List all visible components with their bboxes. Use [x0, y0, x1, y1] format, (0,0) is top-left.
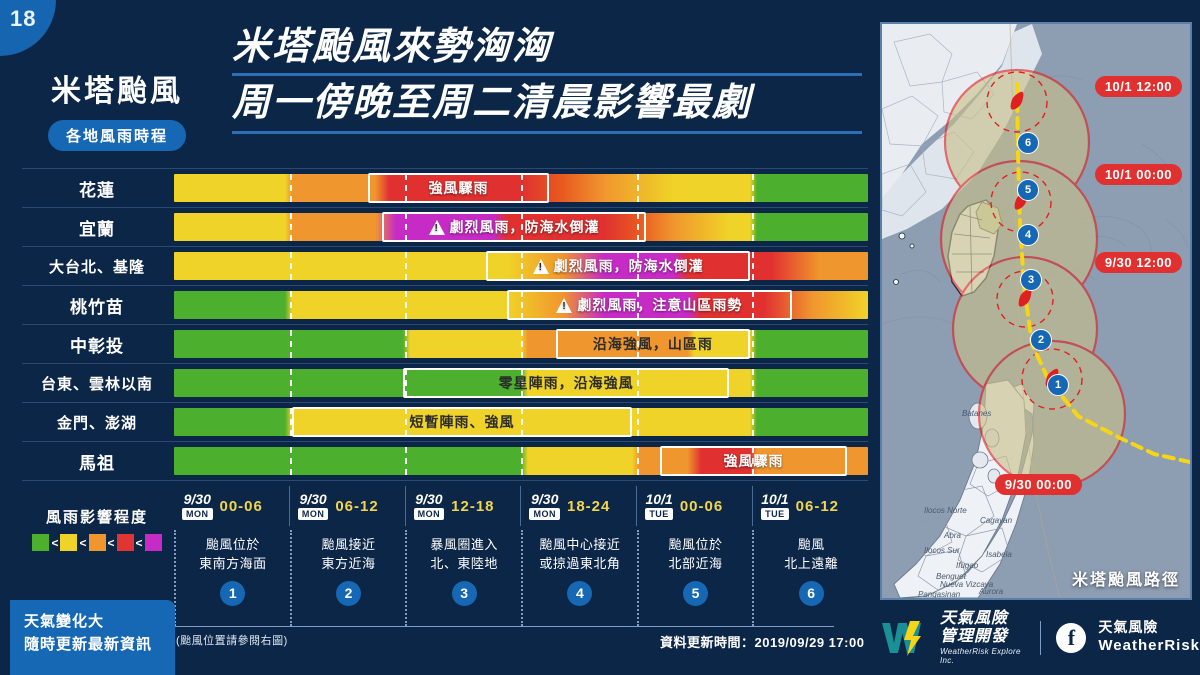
time-gridline — [290, 252, 292, 280]
stage-number-badge: 4 — [567, 581, 592, 606]
brand-name-zh: 天氣風險管理開發 — [940, 610, 1024, 647]
legend-separator: < — [51, 536, 58, 550]
title-divider-2 — [232, 131, 862, 134]
warning-triangle-icon — [556, 298, 572, 313]
severity-track: 零星陣雨，沿海強風 — [174, 369, 868, 397]
time-gridline — [290, 213, 292, 241]
chart-row: 中彰投沿海強風，山區雨 — [22, 324, 868, 363]
time-gridline — [290, 291, 292, 319]
main-title: 米塔颱風來勢洶洶 周一傍晚至周二清晨影響最劇 — [232, 24, 862, 138]
legend-color-swatch — [117, 534, 134, 551]
title-divider-1 — [232, 73, 862, 76]
stage-descriptions: 颱風位於東南方海面1颱風接近東方近海2暴風圈進入北、東陸地3颱風中心接近或掠過東… — [174, 530, 868, 626]
time-gridline — [637, 447, 639, 475]
page-number: 18 — [10, 6, 36, 32]
time-date-block: 10/1TUE — [645, 492, 673, 520]
severity-track: 劇烈風雨，防海水倒灌 — [174, 213, 868, 241]
time-weekday: MON — [298, 508, 329, 520]
time-gridline — [752, 330, 754, 358]
warning-triangle-icon — [429, 220, 445, 235]
map-track-point: 3 — [1020, 269, 1042, 291]
time-range: 12-18 — [451, 498, 494, 515]
stage-desc-line1: 颱風接近 — [322, 536, 376, 555]
time-date: 9/30 — [299, 492, 326, 507]
time-gridline — [405, 291, 407, 319]
page-number-badge: 18 — [0, 0, 56, 56]
brand-footer: 天氣風險管理開發 WeatherRisk Explore Inc. f 天氣風險… — [880, 610, 1200, 665]
facebook-handle[interactable]: 天氣風險 WeatherRisk — [1098, 619, 1200, 655]
time-date-block: 10/1TUE — [761, 492, 789, 520]
fb-line1: 天氣風險 — [1098, 619, 1200, 637]
map-province-label: Ilocos Sur — [924, 546, 960, 555]
map-province-label: Ifugao — [956, 561, 978, 570]
severity-tag-text: 強風驟雨 — [429, 178, 489, 198]
region-label: 宜蘭 — [22, 208, 172, 246]
time-gridline — [637, 174, 639, 202]
severity-track: 劇烈風雨，注意山區雨勢 — [174, 291, 868, 319]
warning-triangle-icon — [533, 259, 549, 274]
severity-tag-text: 沿海強風，山區雨 — [593, 334, 713, 354]
severity-track: 強風驟雨 — [174, 447, 868, 475]
time-gridline — [752, 252, 754, 280]
chart-row: 台東、雲林以南零星陣雨，沿海強風 — [22, 363, 868, 402]
chart-row: 宜蘭劇烈風雨，防海水倒灌 — [22, 207, 868, 246]
stage-desc-line1: 颱風中心接近 — [539, 536, 620, 555]
legend-separator: < — [108, 536, 115, 550]
map-track-point: 1 — [1047, 374, 1069, 396]
stage-desc-line2: 北部近海 — [669, 555, 723, 574]
severity-tag: 零星陣雨，沿海強風 — [403, 368, 729, 398]
time-gridline — [752, 369, 754, 397]
time-gridline — [405, 447, 407, 475]
brand-text: 天氣風險管理開發 WeatherRisk Explore Inc. — [940, 610, 1024, 665]
time-gridline — [752, 408, 754, 436]
time-range: 06-12 — [335, 498, 378, 515]
severity-tag-text: 短暫陣雨、強風 — [409, 412, 514, 432]
chart-row: 桃竹苗劇烈風雨，注意山區雨勢 — [22, 285, 868, 324]
update-time: 資料更新時間：2019/09/29 17:00 — [660, 632, 864, 651]
legend-color-swatch — [60, 534, 77, 551]
footer-notice: 天氣變化大 隨時更新最新資訊 — [10, 600, 175, 675]
map-date-pill: 10/1 00:00 — [1095, 164, 1182, 185]
time-gridline — [521, 330, 523, 358]
region-label: 金門、澎湖 — [22, 403, 172, 441]
stage-desc-line1: 颱風位於 — [669, 536, 723, 555]
infographic-root: 18 米塔颱風 各地風雨時程 米塔颱風來勢洶洶 周一傍晚至周二清晨影響最劇 花蓮… — [0, 0, 1200, 675]
region-label: 台東、雲林以南 — [22, 364, 172, 402]
severity-tag-text: 劇烈風雨，防海水倒灌 — [554, 256, 704, 276]
legend-swatches: <<<< — [22, 534, 172, 551]
region-label: 中彰投 — [22, 325, 172, 363]
main-title-line1: 米塔颱風來勢洶洶 — [232, 24, 862, 70]
stage-description: 颱風位於東南方海面1 — [174, 530, 290, 626]
typhoon-name: 米塔颱風 — [22, 66, 212, 110]
stage-desc-line2: 東南方海面 — [199, 555, 267, 574]
map-reference-note: (颱風位置請參閱右圖) — [176, 632, 288, 648]
time-date-block: 9/30MON — [414, 492, 445, 520]
stage-number-badge: 6 — [799, 581, 824, 606]
map-caption: 米塔颱風路徑 — [1072, 566, 1180, 590]
time-gridline — [752, 174, 754, 202]
typhoon-track-map[interactable]: 10/1 12:0010/1 00:009/30 12:009/30 00:00… — [880, 22, 1192, 600]
time-range: 00-06 — [680, 498, 723, 515]
time-gridline — [521, 447, 523, 475]
region-label: 馬祖 — [22, 442, 172, 480]
time-gridline — [290, 174, 292, 202]
stage-desc-line1: 颱風 — [798, 536, 825, 555]
chart-row: 大台北、基隆劇烈風雨，防海水倒灌 — [22, 246, 868, 285]
chart-row: 金門、澎湖短暫陣雨、強風 — [22, 402, 868, 441]
legend-color-swatch — [89, 534, 106, 551]
facebook-icon[interactable]: f — [1056, 623, 1086, 653]
region-label: 花蓮 — [22, 169, 172, 207]
timeline-chart: 花蓮強風驟雨宜蘭劇烈風雨，防海水倒灌大台北、基隆劇烈風雨，防海水倒灌桃竹苗劇烈風… — [22, 168, 868, 481]
stage-desc-line2: 東方近海 — [322, 555, 376, 574]
severity-tag: 強風驟雨 — [660, 446, 847, 476]
severity-tag-text: 劇烈風雨，防海水倒灌 — [450, 217, 600, 237]
severity-track: 短暫陣雨、強風 — [174, 408, 868, 436]
stage-description: 颱風位於北部近海5 — [637, 530, 753, 626]
time-range: 18-24 — [567, 498, 610, 515]
time-column-header: 10/1TUE06-12 — [752, 486, 868, 526]
severity-track: 沿海強風，山區雨 — [174, 330, 868, 358]
stage-desc-line2: 或掠過東北角 — [539, 555, 620, 574]
time-gridline — [637, 408, 639, 436]
time-range: 00-06 — [220, 498, 263, 515]
map-track-point: 2 — [1030, 329, 1052, 351]
desc-divider — [174, 626, 834, 627]
region-label: 桃竹苗 — [22, 286, 172, 324]
map-date-pill: 10/1 12:00 — [1095, 76, 1182, 97]
legend-separator: < — [136, 536, 143, 550]
time-weekday: TUE — [761, 508, 789, 520]
legend-color-swatch — [32, 534, 49, 551]
map-province-label: Cagayan — [980, 516, 1012, 525]
time-weekday: MON — [414, 508, 445, 520]
subtitle-pill: 各地風雨時程 — [48, 120, 186, 151]
time-range: 06-12 — [796, 498, 839, 515]
map-province-label: Abra — [944, 531, 961, 540]
severity-track: 強風驟雨 — [174, 174, 868, 202]
chart-row: 花蓮強風驟雨 — [22, 168, 868, 207]
map-province-label: Isabela — [986, 550, 1012, 559]
stage-description: 颱風北上遠離6 — [752, 530, 868, 626]
stage-number-badge: 2 — [336, 581, 361, 606]
severity-track: 劇烈風雨，防海水倒灌 — [174, 252, 868, 280]
severity-tag: 強風驟雨 — [368, 173, 548, 203]
brand-divider — [1040, 621, 1041, 655]
map-province-label: Pangasinan — [918, 590, 960, 599]
legend-title: 風雨影響程度 — [22, 506, 172, 527]
map-province-label: Ilocos Norte — [924, 506, 967, 515]
severity-tag: 劇烈風雨，防海水倒灌 — [382, 212, 646, 242]
map-date-pill: 9/30 12:00 — [1095, 252, 1182, 273]
weatherrisk-logo-icon — [880, 619, 928, 657]
chart-row: 馬祖強風驟雨 — [22, 441, 868, 481]
time-column-header: 9/30MON00-06 — [174, 486, 289, 526]
stage-desc-line1: 暴風圈進入 — [430, 536, 498, 555]
map-province-label: Batanes — [962, 409, 991, 418]
time-date: 9/30 — [415, 492, 442, 507]
footer-notice-line2: 隨時更新最新資訊 — [24, 633, 175, 656]
time-column-header: 9/30MON18-24 — [520, 486, 636, 526]
map-track-point: 6 — [1017, 132, 1039, 154]
legend-separator: < — [79, 536, 86, 550]
time-weekday: MON — [529, 508, 560, 520]
map-date-pill: 9/30 00:00 — [995, 474, 1082, 495]
main-title-line2: 周一傍晚至周二清晨影響最劇 — [232, 80, 862, 126]
time-weekday: TUE — [645, 508, 673, 520]
time-gridline — [290, 330, 292, 358]
stage-description: 颱風中心接近或掠過東北角4 — [521, 530, 637, 626]
time-date: 10/1 — [761, 492, 788, 507]
time-date: 9/30 — [531, 492, 558, 507]
time-date: 10/1 — [645, 492, 672, 507]
region-label: 大台北、基隆 — [22, 247, 172, 285]
severity-legend: 風雨影響程度 <<<< — [22, 506, 172, 551]
time-column-header: 9/30MON12-18 — [405, 486, 521, 526]
stage-desc-line2: 北、東陸地 — [430, 555, 498, 574]
severity-tag-text: 劇烈風雨，注意山區雨勢 — [577, 295, 742, 315]
stage-number-badge: 1 — [220, 581, 245, 606]
time-gridline — [290, 447, 292, 475]
stage-description: 暴風圈進入北、東陸地3 — [405, 530, 521, 626]
time-gridline — [752, 213, 754, 241]
time-gridline — [405, 252, 407, 280]
severity-tag: 沿海強風，山區雨 — [556, 329, 750, 359]
legend-color-swatch — [145, 534, 162, 551]
severity-tag: 劇烈風雨，注意山區雨勢 — [507, 290, 792, 320]
time-gridline — [405, 330, 407, 358]
stage-number-badge: 3 — [452, 581, 477, 606]
brand-name-en: WeatherRisk Explore Inc. — [940, 647, 1024, 665]
time-gridline — [290, 369, 292, 397]
fb-line2: WeatherRisk — [1098, 637, 1200, 656]
stage-description: 颱風接近東方近海2 — [290, 530, 406, 626]
stage-desc-line2: 北上遠離 — [784, 555, 838, 574]
stage-number-badge: 5 — [683, 581, 708, 606]
time-column-header: 10/1TUE00-06 — [636, 486, 752, 526]
map-track-point: 4 — [1017, 224, 1039, 246]
severity-tag-text: 零星陣雨，沿海強風 — [499, 373, 634, 393]
map-province-label: Aurora — [979, 587, 1003, 596]
time-date-block: 9/30MON — [529, 492, 560, 520]
severity-tag: 劇烈風雨，防海水倒灌 — [486, 251, 750, 281]
stage-desc-line1: 颱風位於 — [206, 536, 260, 555]
severity-tag: 短暫陣雨、強風 — [292, 407, 632, 437]
footer-notice-line1: 天氣變化大 — [24, 610, 175, 633]
time-axis-header: 9/30MON00-069/30MON06-129/30MON12-189/30… — [174, 486, 868, 526]
time-date-block: 9/30MON — [298, 492, 329, 520]
time-date: 9/30 — [184, 492, 211, 507]
severity-tag-text: 強風驟雨 — [723, 451, 783, 471]
time-date-block: 9/30MON — [182, 492, 213, 520]
map-track-point: 5 — [1017, 179, 1039, 201]
time-weekday: MON — [182, 508, 213, 520]
time-column-header: 9/30MON06-12 — [289, 486, 405, 526]
left-title-block: 米塔颱風 各地風雨時程 — [22, 66, 212, 151]
